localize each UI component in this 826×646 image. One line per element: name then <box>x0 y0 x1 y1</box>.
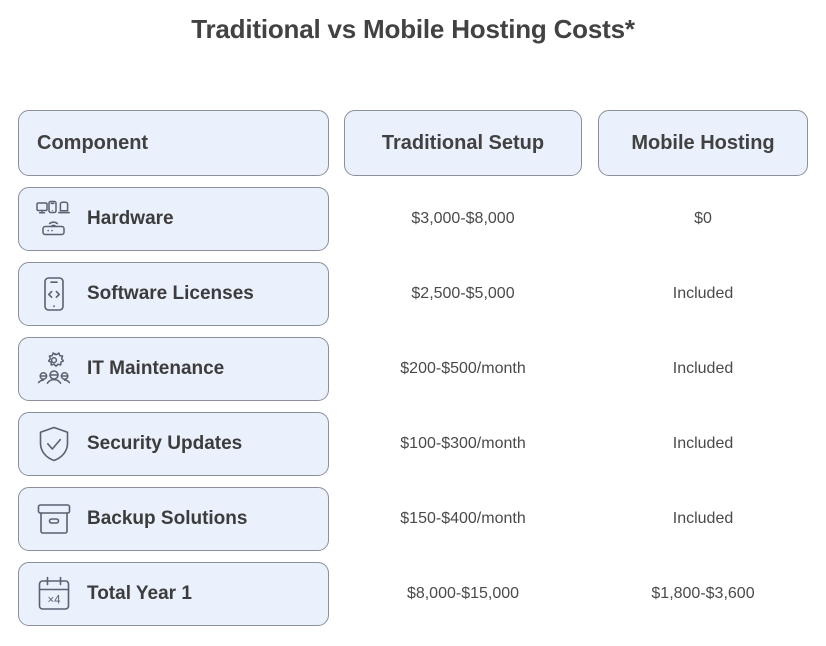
archive-box-icon <box>33 498 75 540</box>
row-label: Backup Solutions <box>87 508 247 530</box>
row-label: IT Maintenance <box>87 358 224 380</box>
table-row: Software Licenses $2,500-$5,000 Included <box>18 262 808 326</box>
row-mobile-value: $1,800-$3,600 <box>598 562 808 626</box>
row-traditional-cell: $100-$300/month <box>344 412 582 476</box>
row-traditional-value: $3,000-$8,000 <box>344 187 582 251</box>
shield-check-icon <box>33 423 75 465</box>
table-row: Security Updates $100-$300/month Include… <box>18 412 808 476</box>
row-mobile-value: Included <box>598 412 808 476</box>
row-traditional-value: $2,500-$5,000 <box>344 262 582 326</box>
row-traditional-value: $200-$500/month <box>344 337 582 401</box>
row-mobile-value: Included <box>598 487 808 551</box>
row-label: Hardware <box>87 208 174 230</box>
table-row: Hardware $3,000-$8,000 $0 <box>18 187 808 251</box>
table-header-row: Component Traditional Setup Mobile Hosti… <box>18 110 808 176</box>
header-label-component: Component <box>37 132 148 155</box>
row-traditional-cell: $2,500-$5,000 <box>344 262 582 326</box>
row-traditional-value: $8,000-$15,000 <box>344 562 582 626</box>
gear-team-icon <box>33 348 75 390</box>
header-label-mobile: Mobile Hosting <box>631 132 774 155</box>
row-label: Total Year 1 <box>87 583 192 605</box>
row-traditional-cell: $8,000-$15,000 <box>344 562 582 626</box>
header-cell-mobile: Mobile Hosting <box>598 110 808 176</box>
row-component-cell: IT Maintenance <box>18 337 329 401</box>
row-component-cell: Security Updates <box>18 412 329 476</box>
table-row: Backup Solutions $150-$400/month Include… <box>18 487 808 551</box>
header-cell-component: Component <box>18 110 329 176</box>
row-traditional-value: $100-$300/month <box>344 412 582 476</box>
header-cell-traditional: Traditional Setup <box>344 110 582 176</box>
row-component-cell: Hardware <box>18 187 329 251</box>
row-mobile-value: Included <box>598 262 808 326</box>
calendar-x4-icon: ×4 <box>33 573 75 615</box>
cost-comparison-table: Component Traditional Setup Mobile Hosti… <box>18 110 808 637</box>
comparison-table-page: Traditional vs Mobile Hosting Costs* Com… <box>0 0 826 646</box>
row-traditional-value: $150-$400/month <box>344 487 582 551</box>
row-label: Security Updates <box>87 433 242 455</box>
devices-network-icon <box>33 198 75 240</box>
mobile-code-icon <box>33 273 75 315</box>
table-row: IT Maintenance $200-$500/month Included <box>18 337 808 401</box>
row-component-cell: Software Licenses <box>18 262 329 326</box>
row-label: Software Licenses <box>87 283 254 305</box>
row-component-cell: Backup Solutions <box>18 487 329 551</box>
row-mobile-cell: Included <box>598 337 808 401</box>
row-mobile-value: Included <box>598 337 808 401</box>
row-mobile-value: $0 <box>598 187 808 251</box>
row-traditional-cell: $150-$400/month <box>344 487 582 551</box>
row-mobile-cell: Included <box>598 262 808 326</box>
row-mobile-cell: Included <box>598 412 808 476</box>
table-row: ×4 Total Year 1 $8,000-$15,000 $1,800-$3… <box>18 562 808 626</box>
page-title: Traditional vs Mobile Hosting Costs* <box>0 14 826 45</box>
row-component-cell: ×4 Total Year 1 <box>18 562 329 626</box>
header-label-traditional: Traditional Setup <box>382 132 544 155</box>
calendar-icon-text: ×4 <box>47 594 61 606</box>
row-traditional-cell: $200-$500/month <box>344 337 582 401</box>
row-mobile-cell: $1,800-$3,600 <box>598 562 808 626</box>
row-traditional-cell: $3,000-$8,000 <box>344 187 582 251</box>
row-mobile-cell: $0 <box>598 187 808 251</box>
row-mobile-cell: Included <box>598 487 808 551</box>
